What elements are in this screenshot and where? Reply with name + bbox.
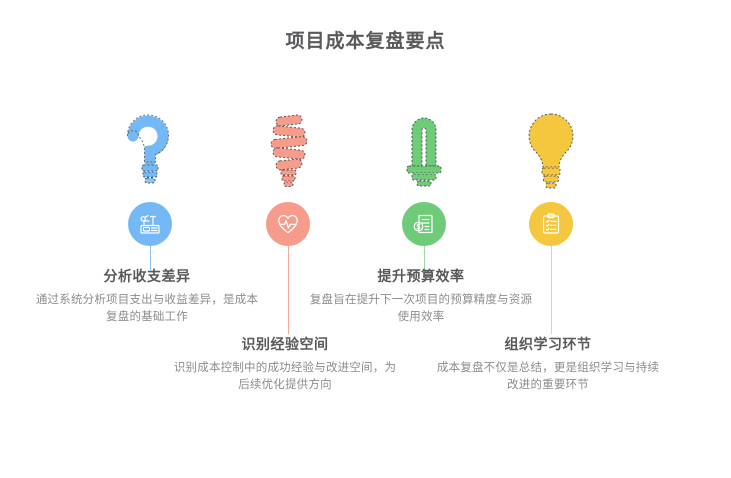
- item-title-2: 识别经验空间: [170, 334, 400, 354]
- text-block-3: 提升预算效率 复盘旨在提升下一次项目的预算精度与资源使用效率: [306, 266, 536, 326]
- item-desc-2: 识别成本控制中的成功经验与改进空间，为后续优化提供方向: [170, 360, 400, 394]
- badge-invoice-document[interactable]: [402, 202, 446, 246]
- item-title-3: 提升预算效率: [306, 266, 536, 286]
- connector-line-2: [288, 246, 290, 334]
- text-block-4: 组织学习环节 成本复盘不仅是总结，更是组织学习与持续改进的重要环节: [433, 334, 663, 394]
- classic-bulb-icon: [506, 110, 596, 192]
- u-tube-bulb-icon: [379, 110, 469, 192]
- connector-line-4: [551, 246, 553, 334]
- machine-equipment-icon: [138, 212, 162, 236]
- question-mark-bulb-icon: [105, 110, 195, 192]
- item-title-1: 分析收支差异: [32, 266, 262, 286]
- invoice-document-icon: [412, 212, 436, 236]
- item-title-4: 组织学习环节: [433, 334, 663, 354]
- text-block-2: 识别经验空间 识别成本控制中的成功经验与改进空间，为后续优化提供方向: [170, 334, 400, 394]
- item-desc-4: 成本复盘不仅是总结，更是组织学习与持续改进的重要环节: [433, 360, 663, 394]
- spiral-cfl-bulb-icon: [243, 110, 333, 192]
- page-title: 项目成本复盘要点: [0, 26, 731, 53]
- clipboard-checklist-icon: [539, 212, 563, 236]
- infographic-canvas: 项目成本复盘要点: [0, 0, 731, 478]
- heart-pulse-icon: [276, 212, 300, 236]
- badge-clipboard-checklist[interactable]: [529, 202, 573, 246]
- item-desc-1: 通过系统分析项目支出与收益差异，是成本复盘的基础工作: [32, 292, 262, 326]
- item-desc-3: 复盘旨在提升下一次项目的预算精度与资源使用效率: [306, 292, 536, 326]
- badge-machine-equipment[interactable]: [128, 202, 172, 246]
- text-block-1: 分析收支差异 通过系统分析项目支出与收益差异，是成本复盘的基础工作: [32, 266, 262, 326]
- badge-heart-pulse[interactable]: [266, 202, 310, 246]
